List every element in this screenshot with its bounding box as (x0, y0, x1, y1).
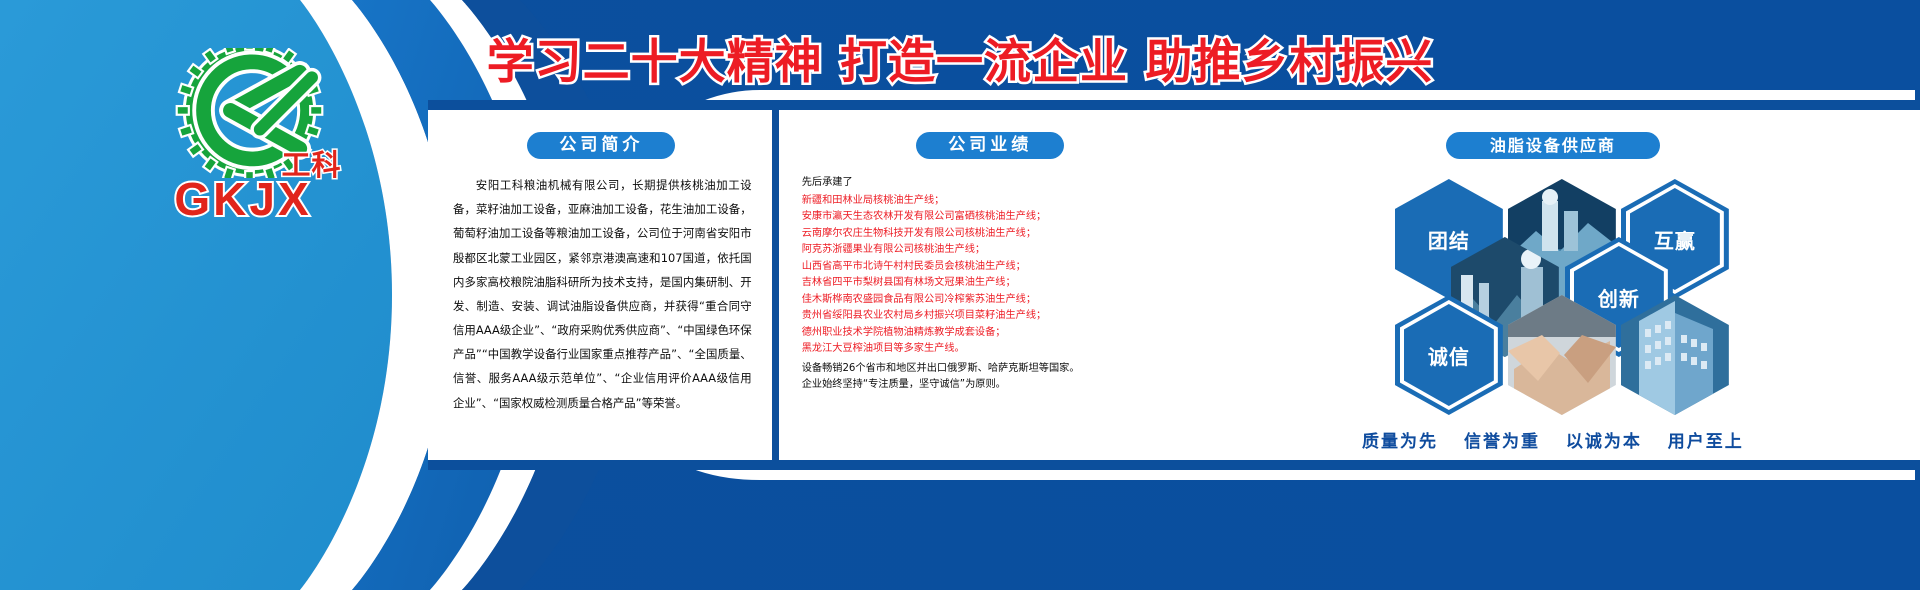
poster-stage: 工科 GKJX 学习二十大精神 打造一流企业 助推乡村振兴 公司简介 安阳工科粮… (0, 0, 1920, 590)
panel3-slogan: 质量为先 信誉为重 以诚为本 用户至上 (1209, 427, 1897, 452)
list-item: 德州职业技术学院植物油精炼教学成套设备； (802, 325, 1181, 342)
list-item: 新疆和田林业局核桃油生产线； (802, 193, 1181, 210)
list-item: 山西省高平市北诗午村村民委员会核桃油生产线； (802, 259, 1181, 276)
list-item: 阿克苏浙疆果业有限公司核桃油生产线； (802, 242, 1181, 259)
list-item: 贵州省绥阳县农业农村局乡村振兴项目菜籽油生产线； (802, 308, 1181, 325)
hexagon-cluster: 团结 互赢 (1223, 165, 1883, 395)
hex-mutual-win-label: 互赢 (1654, 225, 1696, 254)
logo-chinese-text: 工科 (281, 142, 341, 184)
panel2-intro: 先后承建了 (802, 175, 1181, 192)
panel2-body: 先后承建了 新疆和田林业局核桃油生产线； 安康市瀛天生态农林开发有限公司富硒核桃… (796, 175, 1185, 394)
list-item: 吉林省四平市梨树县国有林场文冠果油生产线； (802, 275, 1181, 292)
panel2-tail-line-2: 企业始终坚持“专注质量，坚守诚信”为原则。 (802, 377, 1181, 394)
panel-company-performance: 公司业绩 先后承建了 新疆和田林业局核桃油生产线； 安康市瀛天生态农林开发有限公… (782, 110, 1199, 460)
content-panels: 公司简介 安阳工科粮油机械有限公司，长期提供核桃油加工设备，菜籽油加工设备，亚麻… (431, 110, 1897, 460)
list-item: 安康市瀛天生态农林开发有限公司富硒核桃油生产线； (802, 209, 1181, 226)
hex-innovation-label: 创新 (1598, 283, 1640, 312)
list-item: 佳木斯桦南农盛园食品有限公司冷榨紫苏油生产线； (802, 292, 1181, 309)
slogan-word-4: 用户至上 (1668, 432, 1744, 452)
slogan-word-2: 信誉为重 (1464, 432, 1540, 452)
slogan-word-3: 以诚为本 (1566, 432, 1642, 452)
list-item: 黑龙江大豆榨油项目等多家生产线。 (802, 341, 1181, 358)
panel-company-intro: 公司简介 安阳工科粮油机械有限公司，长期提供核桃油加工设备，菜籽油加工设备，亚麻… (431, 110, 772, 460)
panel-supplier: 油脂设备供应商 团结 (1209, 110, 1897, 460)
list-item: 云南摩尔农庄生物科技开发有限公司核桃油生产线； (802, 226, 1181, 243)
headline-slogan: 学习二十大精神 打造一流企业 助推乡村振兴 (430, 24, 1490, 90)
panel1-body: 安阳工科粮油机械有限公司，长期提供核桃油加工设备，菜籽油加工设备，亚麻油加工设备… (445, 173, 758, 415)
company-logo: 工科 GKJX (118, 48, 368, 248)
gear-logo-icon: 工科 (162, 48, 337, 178)
panel2-tail-line-1: 设备畅销26个省市和地区并出口俄罗斯、哈萨克斯坦等国家。 (802, 361, 1181, 378)
hex-unity-label: 团结 (1428, 225, 1470, 254)
panel3-title: 油脂设备供应商 (1446, 132, 1660, 159)
panel2-title: 公司业绩 (916, 132, 1064, 159)
hex-integrity-label: 诚信 (1428, 341, 1470, 370)
slogan-word-1: 质量为先 (1362, 432, 1438, 452)
panel1-title: 公司简介 (527, 132, 675, 159)
